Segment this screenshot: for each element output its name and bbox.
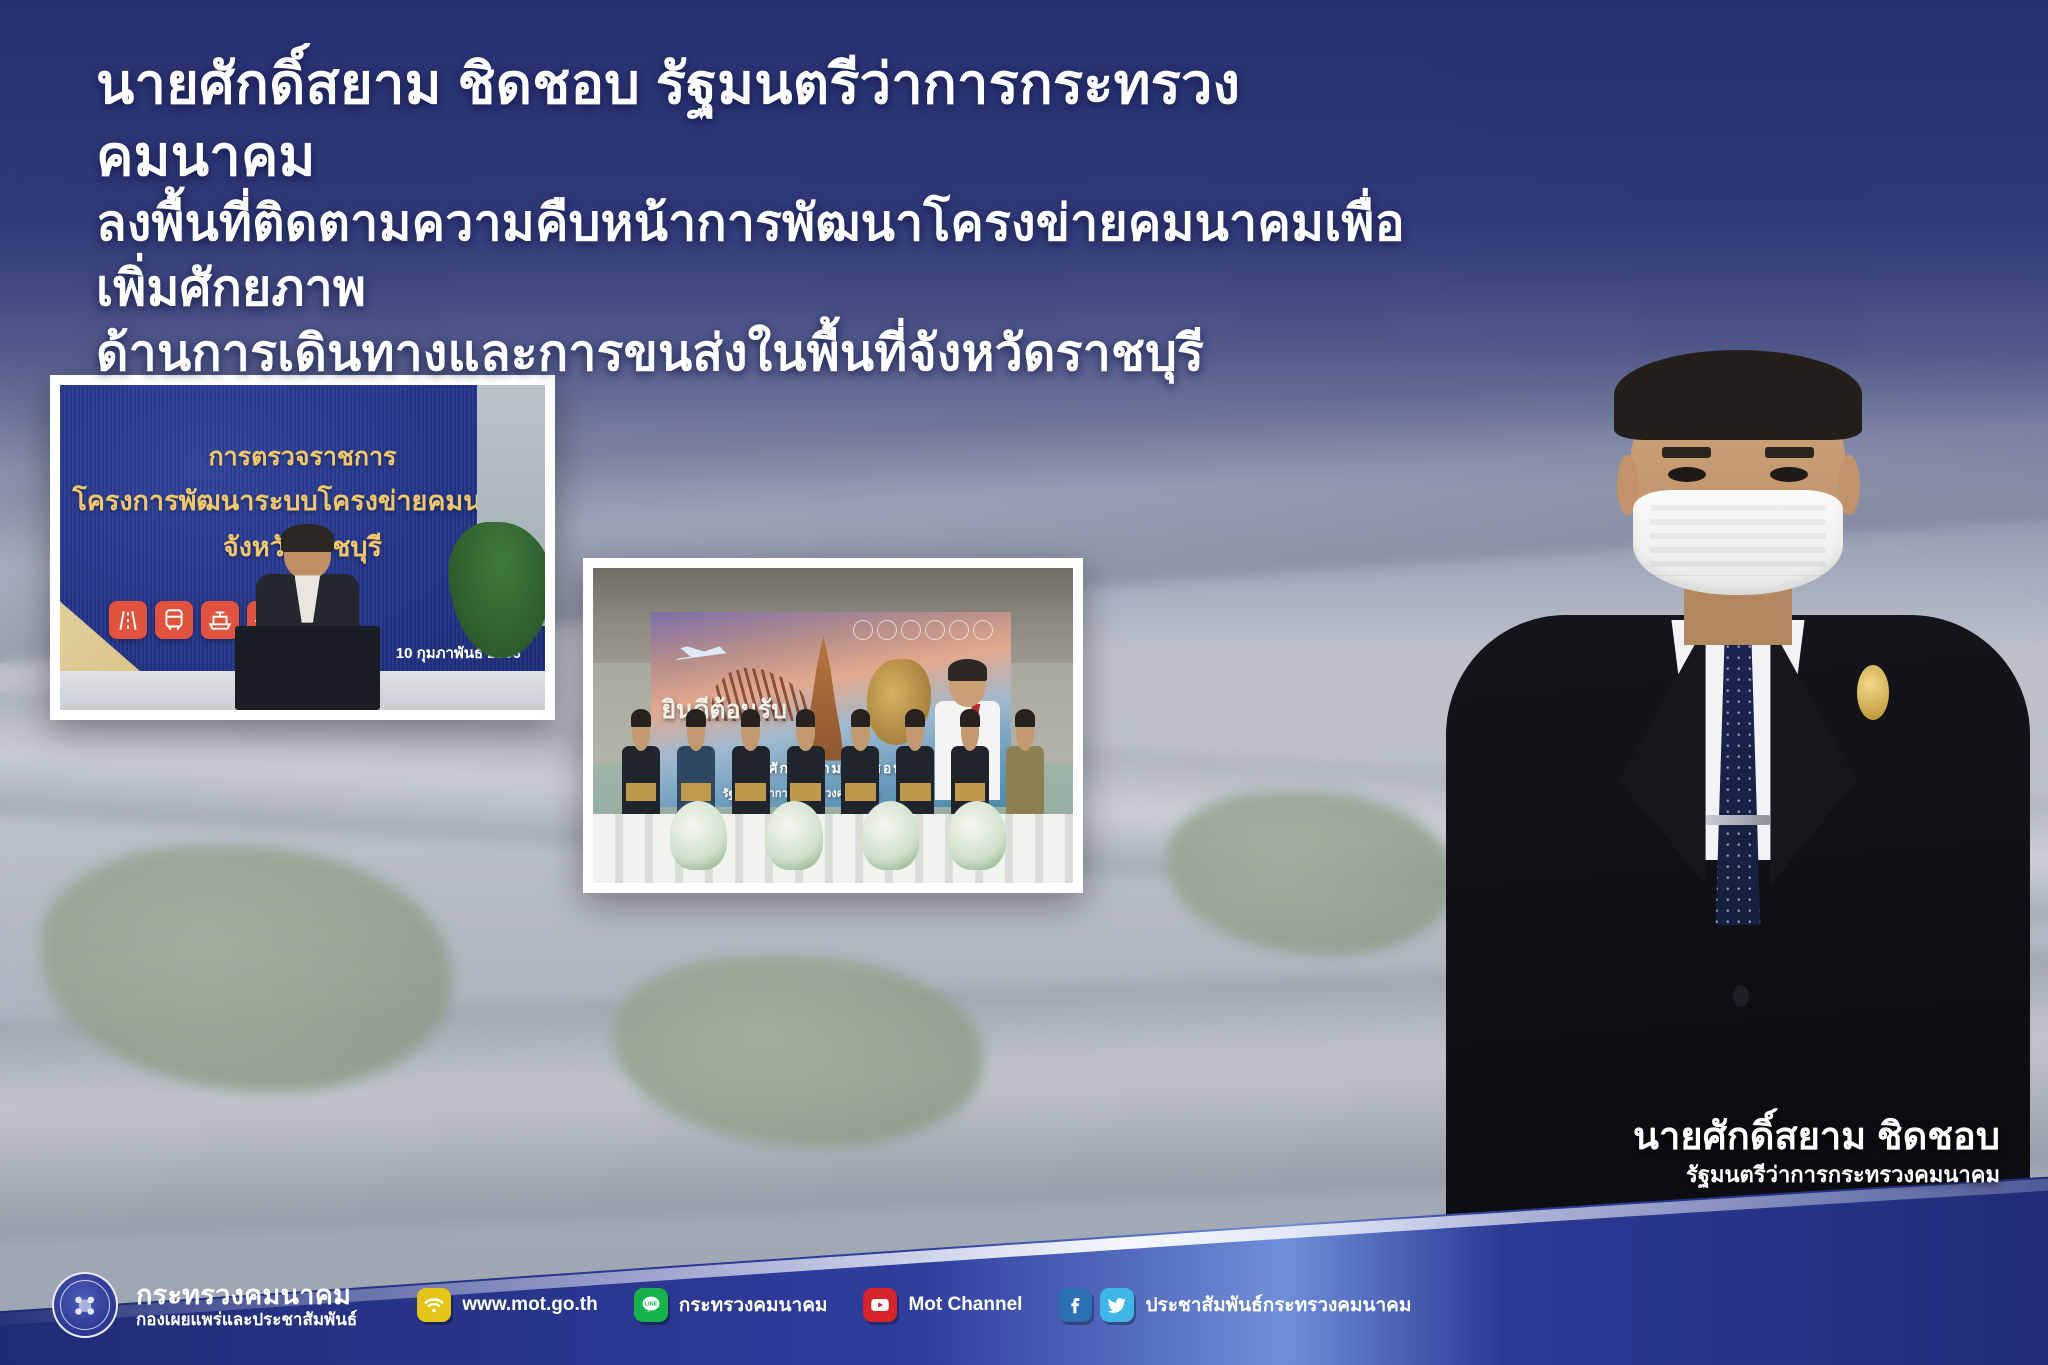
facebook-icon[interactable] — [1058, 1288, 1092, 1322]
website-icon — [417, 1288, 451, 1322]
person-hair — [960, 709, 980, 727]
person-sash — [955, 783, 985, 801]
person-sash — [790, 783, 820, 801]
tie-clip-icon — [1706, 815, 1771, 825]
facebook-twitter-label: ประชาสัมพันธ์กระทรวงคมนาคม — [1145, 1290, 1411, 1320]
agency-seal-icon — [925, 620, 945, 640]
ministry-brand: กระทรวงคมนาคม กองเผยแพร่และประชาสัมพันธ์ — [52, 1272, 357, 1338]
headline-line-1: นายศักดิ์สยาม ชิดชอบ รัฐมนตรีว่าการกระทร… — [96, 48, 1426, 191]
youtube-icon — [863, 1288, 897, 1322]
facebook-twitter-icon-group — [1058, 1288, 1134, 1322]
suit-button — [1733, 985, 1749, 1007]
line-icon: LINE — [634, 1288, 668, 1322]
backdrop-airplane-icon — [672, 643, 730, 670]
nameplate-role: รัฐมนตรีว่าการกระทรวงคมนาคม — [1633, 1161, 2000, 1190]
social-link-youtube[interactable]: Mot Channel — [863, 1288, 1022, 1322]
footer-bar: กระทรวงคมนาคม กองเผยแพร่และประชาสัมพันธ์… — [0, 1245, 2048, 1365]
website-label: www.mot.go.th — [462, 1294, 597, 1316]
person-sash — [735, 783, 765, 801]
podium — [235, 626, 381, 711]
photo-card-group-photo: ยินดีต้อนรับ นายศักดิ์สยาม ชิดชอบ รัฐมนต… — [583, 558, 1083, 893]
face-mask-icon — [1633, 490, 1844, 595]
line-label: กระทรวงคมนาคม — [679, 1290, 828, 1320]
person-sash — [900, 783, 930, 801]
person-sash — [681, 783, 711, 801]
ministry-brand-text: กระทรวงคมนาคม กองเผยแพร่และประชาสัมพันธ์ — [136, 1280, 357, 1331]
highway-icon — [109, 601, 147, 639]
decorative-plant — [448, 522, 545, 659]
headline-block: นายศักดิ์สยาม ชิดชอบ รัฐมนตรีว่าการกระทร… — [96, 48, 1426, 386]
person-sash — [626, 783, 656, 801]
flower-bouquet — [948, 801, 1006, 870]
person-hair — [741, 709, 761, 727]
person-hair — [631, 709, 651, 727]
flower-bouquet — [766, 801, 824, 870]
led-banner-title: การตรวจราชการ — [60, 437, 545, 477]
agency-seal-icon — [949, 620, 969, 640]
headline-line-3: ด้านการเดินทางและการขนส่งในพื้นที่จังหวั… — [96, 321, 1426, 386]
ministry-name: กระทรวงคมนาคม — [136, 1280, 357, 1310]
agency-seal-icon — [853, 620, 873, 640]
person-hair — [851, 709, 871, 727]
social-link-facebook-twitter[interactable]: ประชาสัมพันธ์กระทรวงคมนาคม — [1058, 1288, 1411, 1322]
hair — [1614, 350, 1862, 440]
social-link-line[interactable]: LINE กระทรวงคมนาคม — [634, 1288, 828, 1322]
person-hair — [1015, 709, 1035, 727]
youtube-label: Mot Channel — [908, 1294, 1022, 1316]
led-banner-subtitle: โครงการพัฒนาระบบโครงข่ายคมนาคม — [60, 479, 545, 522]
backdrop-portrait-hair — [948, 659, 987, 681]
agency-seal-icon — [877, 620, 897, 640]
person-sash — [845, 783, 875, 801]
lapel-pin-icon — [1857, 665, 1889, 720]
photo-press-conference: การตรวจราชการ โครงการพัฒนาระบบโครงข่ายคม… — [60, 385, 545, 710]
svg-text:LINE: LINE — [644, 1302, 657, 1308]
social-link-website[interactable]: www.mot.go.th — [417, 1288, 597, 1322]
person-hair — [686, 709, 706, 727]
headline-line-2: ลงพื้นที่ติดตามความคืบหน้าการพัฒนาโครงข่… — [96, 191, 1426, 321]
train-icon — [155, 601, 193, 639]
person-hair — [796, 709, 816, 727]
photo-card-press-conference: การตรวจราชการ โครงการพัฒนาระบบโครงข่ายคม… — [50, 375, 555, 720]
social-links: www.mot.go.th LINE กระทรวงคมนาคม Mot Cha… — [417, 1288, 1433, 1322]
person-hair — [905, 709, 925, 727]
eyebrow-left — [1662, 447, 1711, 458]
eye-right — [1770, 467, 1808, 482]
flower-bouquet — [670, 801, 728, 870]
speaker-hair — [281, 524, 334, 551]
twitter-icon[interactable] — [1100, 1288, 1134, 1322]
backdrop-agency-seals — [853, 620, 993, 640]
flower-bouquet — [862, 801, 920, 870]
eyebrow-right — [1765, 447, 1814, 458]
nameplate: นายศักดิ์สยาม ชิดชอบ รัฐมนตรีว่าการกระทร… — [1633, 1114, 2000, 1190]
agency-seal-icon — [901, 620, 921, 640]
agency-seal-icon — [973, 620, 993, 640]
photo-group: ยินดีต้อนรับ นายศักดิ์สยาม ชิดชอบ รัฐมนต… — [593, 568, 1073, 883]
eye-left — [1668, 467, 1706, 482]
ship-icon — [201, 601, 239, 639]
poster-canvas: นายศักดิ์สยาม ชิดชอบ รัฐมนตรีว่าการกระทร… — [0, 0, 2048, 1365]
ministry-seal-icon — [52, 1272, 118, 1338]
ministry-department: กองเผยแพร่และประชาสัมพันธ์ — [136, 1310, 357, 1330]
nameplate-name: นายศักดิ์สยาม ชิดชอบ — [1633, 1114, 2000, 1162]
